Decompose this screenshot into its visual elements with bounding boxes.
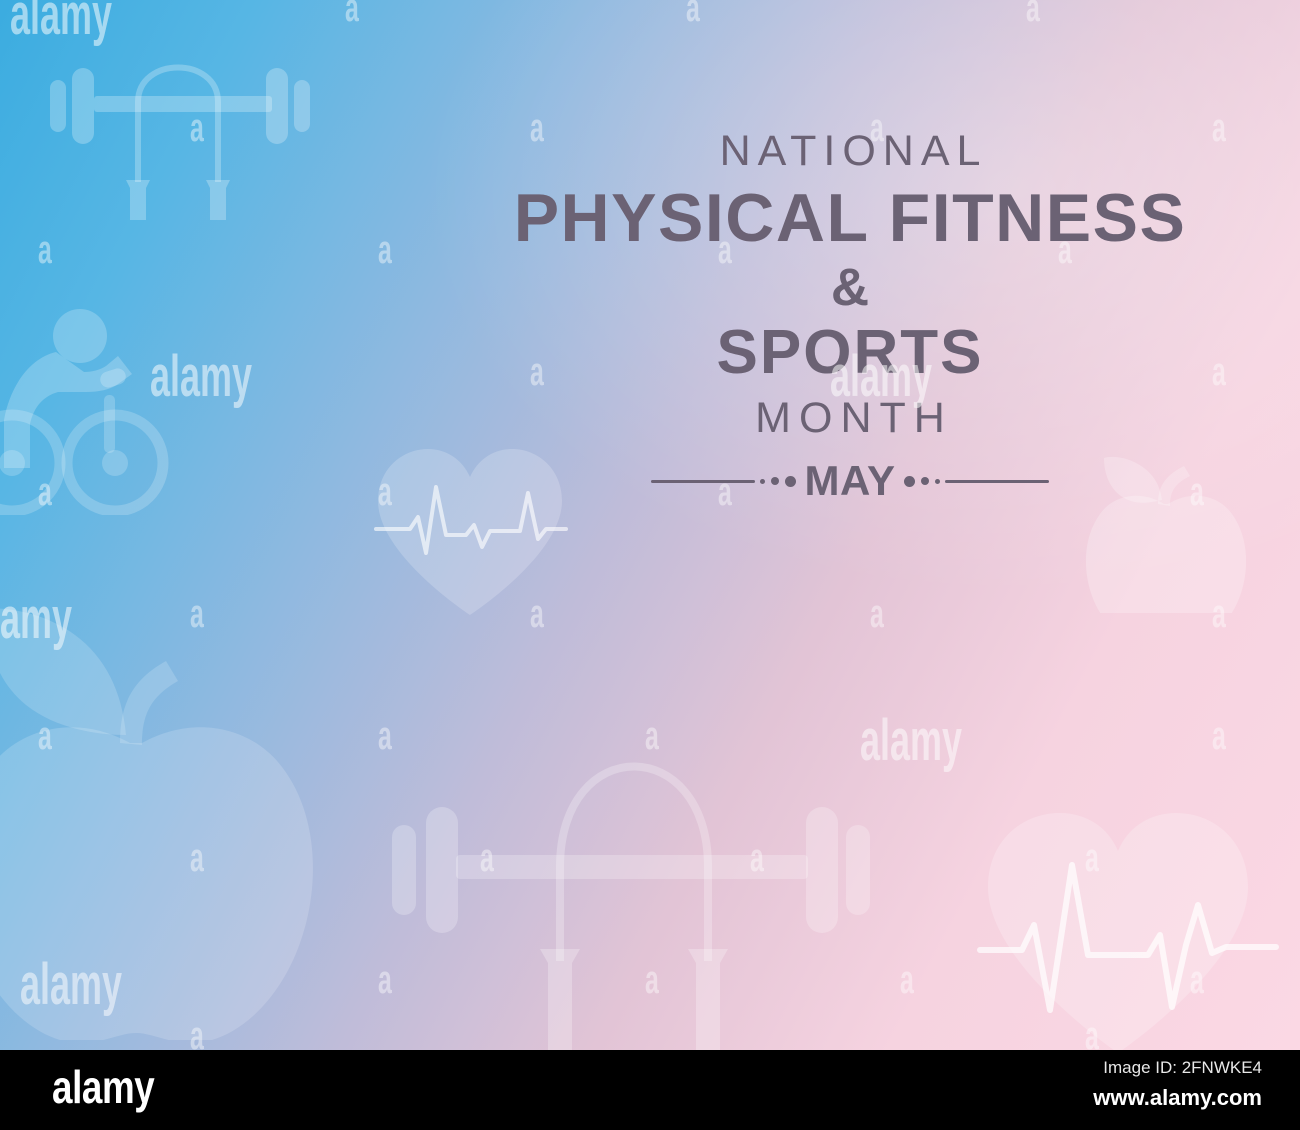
watermark-alamy: alamy [150, 348, 252, 406]
watermark-a: a [378, 960, 392, 1000]
watermark-a: a [1085, 838, 1099, 878]
watermark-alamy: alamy [860, 712, 962, 770]
title-line-sports: SPORTS [510, 320, 1190, 385]
divider-dot [935, 479, 940, 484]
divider-dot [785, 476, 796, 487]
watermark-a: a [1212, 594, 1226, 634]
watermark-a: a [190, 1016, 204, 1050]
title-line-physical-fitness: PHYSICAL FITNESS [510, 182, 1190, 255]
watermark-a: a [1026, 0, 1040, 28]
divider-dots-left [760, 476, 796, 487]
divider-dot [921, 477, 929, 485]
watermark-a: a [900, 960, 914, 1000]
watermark-a: a [1212, 716, 1226, 756]
watermark-alamy: alamy [20, 956, 122, 1014]
caption-bar: alamy Image ID: 2FNWKE4 www.alamy.com [0, 1050, 1300, 1130]
image-credit: Image ID: 2FNWKE4 www.alamy.com [1093, 1056, 1262, 1114]
watermark-a: a [645, 960, 659, 1000]
watermark-a: a [530, 594, 544, 634]
watermark-a: a [190, 594, 204, 634]
month-label: MAY [803, 460, 898, 502]
watermark-a: a [190, 108, 204, 148]
watermark-alamy: alamy [10, 0, 112, 44]
watermark-a: a [645, 716, 659, 756]
image-id-text: Image ID: 2FNWKE4 [1093, 1056, 1262, 1081]
barbell-jumprope-icon [28, 20, 338, 220]
divider-dot [771, 477, 779, 485]
stock-photo-page: NATIONAL PHYSICAL FITNESS & SPORTS MONTH… [0, 0, 1300, 1130]
title-line-national: NATIONAL [517, 130, 1190, 174]
watermark-a: a [378, 716, 392, 756]
heart-pulse-icon [960, 795, 1280, 1050]
artwork-canvas: NATIONAL PHYSICAL FITNESS & SPORTS MONTH… [0, 0, 1300, 1050]
alamy-url[interactable]: www.alamy.com [1093, 1082, 1262, 1114]
barbell-jumprope-icon [378, 715, 908, 1050]
watermark-a: a [38, 472, 52, 512]
watermark-a: a [686, 0, 700, 28]
divider-dot [904, 476, 915, 487]
watermark-a: a [1212, 108, 1226, 148]
watermark-a: a [750, 838, 764, 878]
watermark-a: a [38, 716, 52, 756]
watermark-a: a [1190, 472, 1204, 512]
watermark-a: a [190, 838, 204, 878]
divider-rule-left [651, 480, 755, 483]
poster-title-block: NATIONAL PHYSICAL FITNESS & SPORTS MONTH… [510, 130, 1190, 502]
cyclist-icon [0, 300, 192, 515]
watermark-alamy: alamy [0, 590, 72, 648]
divider-rule-right [945, 480, 1049, 483]
title-line-month: MONTH [518, 397, 1190, 440]
apple-icon [0, 595, 330, 1040]
watermark-a: a [38, 230, 52, 270]
watermark-a: a [1212, 352, 1226, 392]
divider-dots-right [904, 476, 940, 487]
watermark-a: a [345, 0, 359, 28]
watermark-a: a [1190, 960, 1204, 1000]
watermark-a: a [378, 230, 392, 270]
watermark-a: a [378, 472, 392, 512]
divider-dot [760, 479, 765, 484]
watermark-a: a [480, 838, 494, 878]
title-line-ampersand: & [510, 261, 1190, 314]
watermark-a: a [870, 594, 884, 634]
watermark-a: a [1085, 1016, 1099, 1050]
alamy-logo[interactable]: alamy [52, 1060, 154, 1114]
month-divider: MAY [510, 460, 1190, 502]
